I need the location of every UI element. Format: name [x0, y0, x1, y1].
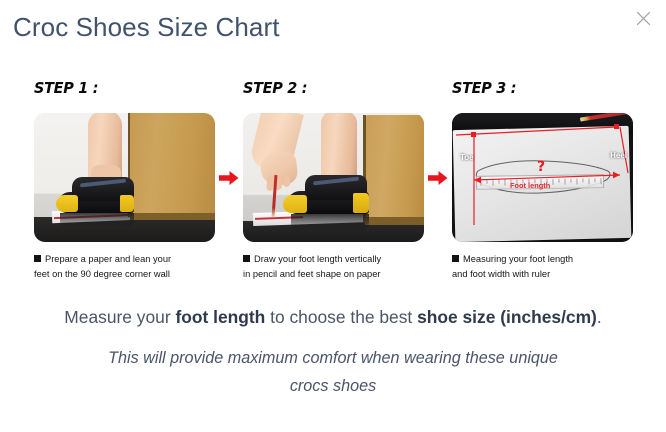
cardboard-wall [365, 115, 424, 223]
cardboard-base [365, 217, 424, 225]
caption-line-2: in pencil and feet shape on paper [243, 269, 381, 279]
arrow-right-icon-2 [428, 169, 448, 187]
footer-text-1: Measure your [64, 307, 175, 327]
close-x-icon [636, 11, 651, 26]
caption-line-2: and foot width with ruler [452, 269, 550, 279]
footer-line-2: This will provide maximum comfort when w… [96, 344, 570, 400]
footer-bold-foot-length: foot length [175, 307, 265, 327]
square-bullet-icon [34, 255, 41, 262]
footer-line-1: Measure your foot length to choose the b… [0, 305, 666, 329]
steps-strip: STEP 1 : Prepare a paper and lean yo [0, 78, 666, 290]
sock-heel-yellow [120, 195, 134, 212]
step-label: STEP 3 : [452, 78, 620, 100]
annotation-toe: Toe [460, 153, 474, 162]
step-item-2: STEP 2 : [243, 78, 424, 281]
cardboard-base [130, 213, 215, 220]
step-photo-1 [34, 113, 215, 242]
close-button[interactable] [628, 3, 658, 33]
footer-text-3: . [597, 307, 602, 327]
footer-text-2: to choose the best [265, 307, 417, 327]
step-label: STEP 1 : [34, 78, 202, 100]
step-photo-3: Toe Heel ? Foot length [452, 113, 633, 242]
footer-bold-shoe-size: shoe size (inches/cm) [417, 307, 597, 327]
caption-line-1: Prepare a paper and lean your [45, 254, 171, 264]
step-caption-3: Measuring your foot length and foot widt… [452, 252, 637, 281]
caption-line-1: Measuring your foot length [463, 254, 573, 264]
step-caption-2: Draw your foot length vertically in penc… [243, 252, 428, 281]
cardboard-wall [130, 113, 215, 217]
floor-reflection [291, 214, 369, 232]
finger [283, 175, 290, 187]
caption-line-1: Draw your foot length vertically [254, 254, 381, 264]
annotation-foot-length: Foot length [510, 181, 550, 190]
arrow-right-icon-1 [219, 169, 239, 187]
measurement-annotations [452, 113, 633, 242]
sock-heel-yellow [353, 193, 369, 213]
step-photo-2 [243, 113, 424, 242]
sock-toe-yellow [283, 195, 307, 213]
step-item-3: STEP 3 : [452, 78, 633, 281]
square-bullet-icon [243, 255, 250, 262]
square-bullet-icon [452, 255, 459, 262]
caption-line-2: feet on the 90 degree corner wall [34, 269, 170, 279]
step-item-1: STEP 1 : Prepare a paper and lean yo [34, 78, 215, 281]
annotation-heel: Heel [610, 151, 627, 160]
annotation-question: ? [537, 159, 545, 175]
step-caption-1: Prepare a paper and lean your feet on th… [34, 252, 219, 281]
page-title: Croc Shoes Size Chart [13, 12, 280, 43]
size-chart-modal: Croc Shoes Size Chart STEP 1 : [0, 0, 666, 432]
sock-toe-yellow [56, 195, 78, 212]
floor-reflection [60, 213, 134, 229]
step-label: STEP 2 : [243, 78, 411, 100]
